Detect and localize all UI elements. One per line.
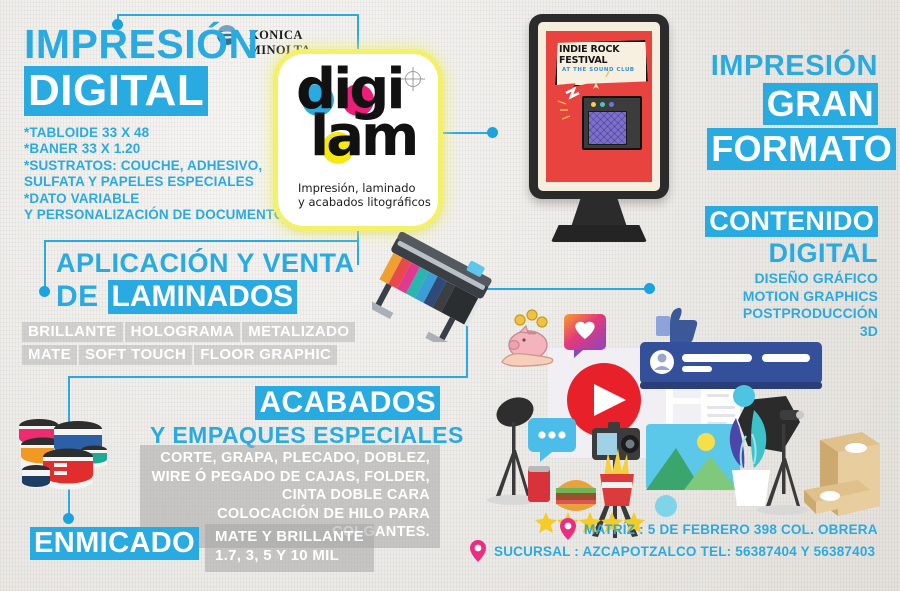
section-enmicado: ENMICADO [30,527,199,560]
detail-line: DISEÑO GRÁFICO [684,270,878,288]
bullet-item: *DATO VARIABLE [24,191,294,207]
detail-line: MATE Y BRILLANTE [215,528,364,547]
billboard-illustration: INDIE ROCK FESTIVAL AT THE SOUND CLUB [513,14,685,244]
section-gran-formato: IMPRESIÓN GRAN FORMATO [706,52,878,170]
piggy-bank-icon [502,310,553,366]
ink-cans-illustration [10,405,120,495]
poster-amplifier-icon [582,96,642,150]
location-pin-icon [560,518,576,540]
gran-formato-title-line1: IMPRESIÓN [706,52,878,80]
poster-artwork: INDIE ROCK FESTIVAL AT THE SOUND CLUB [546,31,652,182]
connector-line-acabados [68,376,468,378]
bullet-item: Y PERSONALIZACIÓN DE DOCUMENTOS [24,207,294,223]
acabados-title-line1-wrap: ACABADOS [150,386,440,420]
play-button-icon [567,363,641,437]
connector-dot-logo-right [487,127,498,138]
laminados-title-line2-wrap: DE LAMINADOS [56,280,355,314]
logo-tagline-line2: y acabados litográficos [298,195,431,209]
bullet-item: *BANER 33 X 1.20 [24,141,294,157]
laminados-tag: HOLOGRAMA [125,322,241,342]
billboard-frame: INDIE ROCK FESTIVAL AT THE SOUND CLUB [529,14,669,199]
acabados-title-line2: Y EMPAQUES ESPECIALES [150,424,440,447]
footer-matriz: MATRÍZ : 5 DE FEBRERO 398 COL. OBRERA [584,522,878,537]
cardboard-boxes-icon [804,432,880,516]
gran-formato-title-line2: GRAN [763,83,878,125]
bullet-item: *SUSTRATOS: COUCHE, ADHESIVO, [24,158,294,174]
impresion-digital-title-line1: IMPRESIÓN [24,24,259,64]
section-impresion-digital: IMPRESIÓN DIGITAL [24,24,259,116]
connector-line-logo-right [442,132,490,134]
contenido-digital-title-line1: CONTENIDO [705,206,878,237]
laminados-tag-row-1: BRILLANTEHOLOGRAMAMETALIZADO [22,322,372,345]
registration-target-icon [400,66,426,92]
contenido-digital-title-line2: DIGITAL [684,240,878,266]
impresion-digital-bullets: *TABLOIDE 33 X 48 *BANER 33 X 1.20 *SUST… [24,125,294,224]
laminados-tag: FLOOR GRAPHIC [194,345,337,365]
impresion-digital-title-line2: DIGITAL [24,66,208,116]
digital-content-illustration [470,300,900,540]
amp-knob [609,102,614,107]
gran-formato-title-line3: FORMATO [707,128,896,170]
connector-line-top [117,14,359,16]
connector-line-laminados-top [44,240,358,242]
digital-content-icons [470,300,900,540]
connector-dot-laminados [39,286,50,297]
billboard-neck [571,197,627,227]
connector-dot-enmicado [63,513,74,524]
enmicado-title: ENMICADO [30,527,199,560]
laminados-title-line2-highlight: LAMINADOS [108,280,298,314]
enmicado-details: MATE Y BRILLANTE 1.7, 3, 5 Y 10 MIL [205,524,374,572]
section-laminados: APLICACIÓN Y VENTA DE LAMINADOS [56,250,355,314]
facebook-post-icon [640,308,822,389]
enmicado-detail-block: MATE Y BRILLANTE 1.7, 3, 5 Y 10 MIL [205,524,374,572]
laminados-tag-list: BRILLANTEHOLOGRAMAMETALIZADO MATESOFT TO… [22,322,372,368]
bullet-item: SULFATA Y PAPELES ESPECIALES [24,174,294,190]
bullet-item: *TABLOIDE 33 X 48 [24,125,294,141]
contenido-line1-wrap: CONTENIDO [684,206,878,237]
connector-dot-contenido [644,283,655,294]
detail-line: 1.7, 3, 5 Y 10 MIL [215,547,364,566]
amp-knob [591,102,596,107]
detail-line: CORTE, GRAPA, PLECADO, DOBLEZ, [150,449,430,468]
laminados-title-line1: APLICACIÓN Y VENTA [56,250,355,276]
laminados-tag: SOFT TOUCH [79,345,192,365]
logo-word-lam: lam [310,109,416,165]
amplifier-grill [588,111,627,145]
connector-line-logo-down [357,225,359,265]
amp-knob [600,102,605,107]
gran-formato-line3-wrap: FORMATO [706,128,896,170]
section-acabados: ACABADOS Y EMPAQUES ESPECIALES [150,386,440,447]
billboard-screen: INDIE ROCK FESTIVAL AT THE SOUND CLUB [538,22,660,191]
digilam-logo-card: digi lam Impresión, laminado y acabados … [278,54,438,226]
gran-formato-line2-wrap: GRAN [706,83,878,125]
connector-line-laminados-left [44,240,46,290]
infographic-canvas: KONICA MINOLTA IMPRESIÓN DIGITAL *TABLOI… [0,0,900,591]
ink-cans-icon [10,405,120,500]
laminados-tag-row-2: MATESOFT TOUCHFLOOR GRAPHIC [22,345,372,368]
detail-line: WIRE Ó PEGADO DE CAJAS, FOLDER, [150,468,430,487]
laminados-title-line2-plain: DE [56,280,108,313]
acabados-title-line1: ACABADOS [255,386,440,420]
location-pin-icon [470,540,486,562]
laminados-tag: METALIZADO [242,322,355,342]
footer-sucursal: SUCURSAL : AZCAPOTZALCO TEL: 56387404 Y … [494,544,875,559]
laminados-tag: MATE [22,345,77,365]
laminados-tag: BRILLANTE [22,322,123,342]
detail-line: CINTA DOBLE CARA [150,486,430,505]
impresion-digital-title-line2-wrap: DIGITAL [24,66,259,116]
billboard-base [551,225,647,242]
logo-tagline-line1: Impresión, laminado [298,181,416,195]
